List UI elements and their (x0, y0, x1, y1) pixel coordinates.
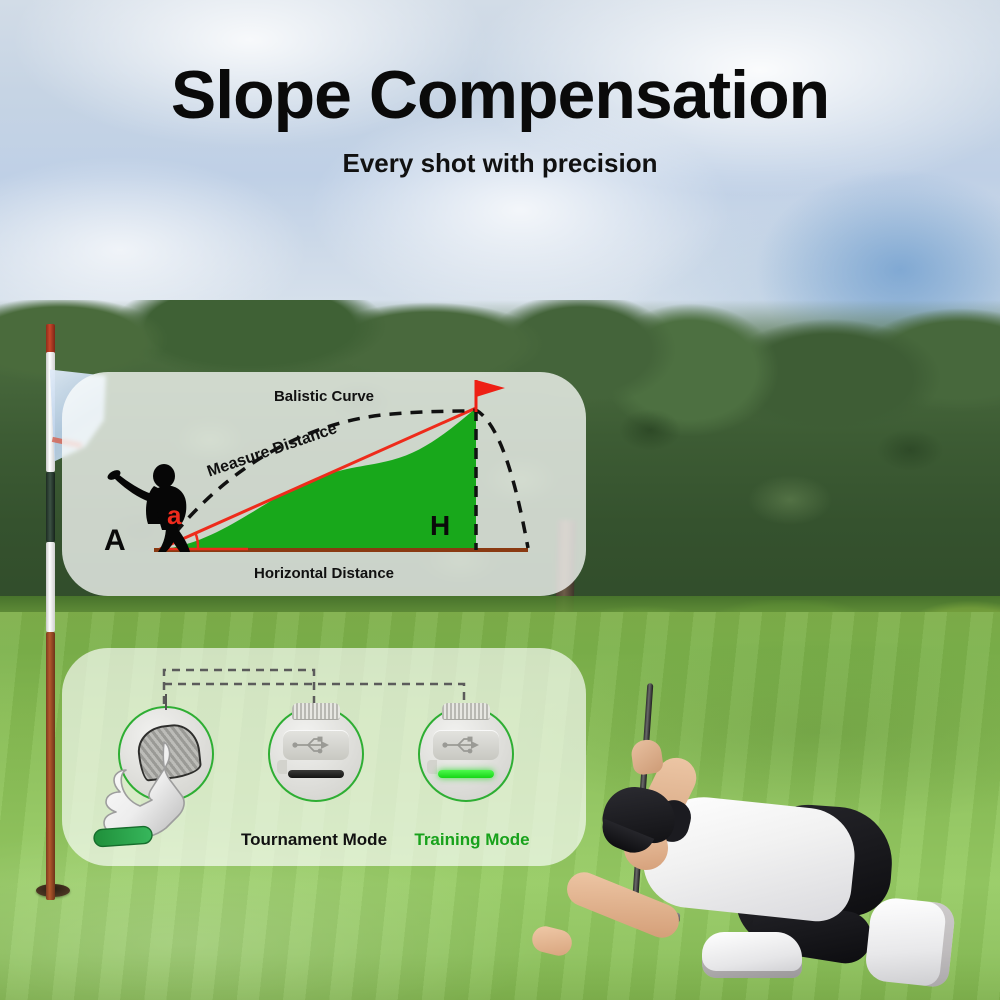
device-knurled-cap (442, 703, 490, 720)
training-mode-caption: Training Mode Slope on (396, 810, 548, 866)
height-label: H (430, 510, 450, 542)
usb-port-tab (277, 760, 287, 774)
tournament-mode-device[interactable] (268, 706, 364, 802)
golfer-lowered-hand (529, 924, 574, 959)
device-knurled-cap (292, 703, 340, 720)
ballistic-curve-label: Balistic Curve (274, 388, 374, 405)
tournament-mode-caption: Tournament Mode Slope off (238, 810, 390, 866)
training-mode-title: Training Mode (396, 830, 548, 850)
pole-tip (46, 324, 55, 354)
training-mode-device[interactable] (418, 706, 514, 802)
page-title: Slope Compensation (0, 56, 1000, 134)
pole-segment-grip (46, 472, 55, 542)
slope-diagram-graphic (62, 372, 586, 596)
slope-compensation-poster: Slope Compensation Every shot with preci… (0, 0, 1000, 1000)
slope-diagram-panel: Balistic Curve Measure Distance Horizont… (62, 372, 586, 596)
mode-selection-panel: Tournament Mode Slope off Training Mode … (62, 648, 586, 866)
status-led-on (438, 770, 494, 778)
usb-port-icon (288, 735, 332, 755)
dial-index-tick (165, 694, 167, 710)
golfer-raised-hand (630, 738, 664, 776)
horizontal-distance-label: Horizontal Distance (254, 565, 394, 582)
usb-port-tab (427, 760, 437, 774)
status-led-off (288, 770, 344, 778)
pointing-hand-icon (90, 740, 210, 850)
pole-segment-red (46, 632, 55, 900)
apex-flag-cloth (476, 380, 505, 397)
page-subtitle: Every shot with precision (0, 148, 1000, 179)
connector-bracket-left (164, 670, 314, 710)
golfer-reading-green (520, 660, 1000, 1000)
tournament-mode-title: Tournament Mode (238, 830, 390, 850)
pole-segment-white-lower (46, 542, 55, 632)
golfer-shoe-front (702, 932, 802, 978)
point-a-label: A (104, 524, 126, 558)
golfer-shoe-back (864, 896, 956, 988)
angle-label: a (167, 500, 181, 531)
usb-port-icon (438, 735, 482, 755)
